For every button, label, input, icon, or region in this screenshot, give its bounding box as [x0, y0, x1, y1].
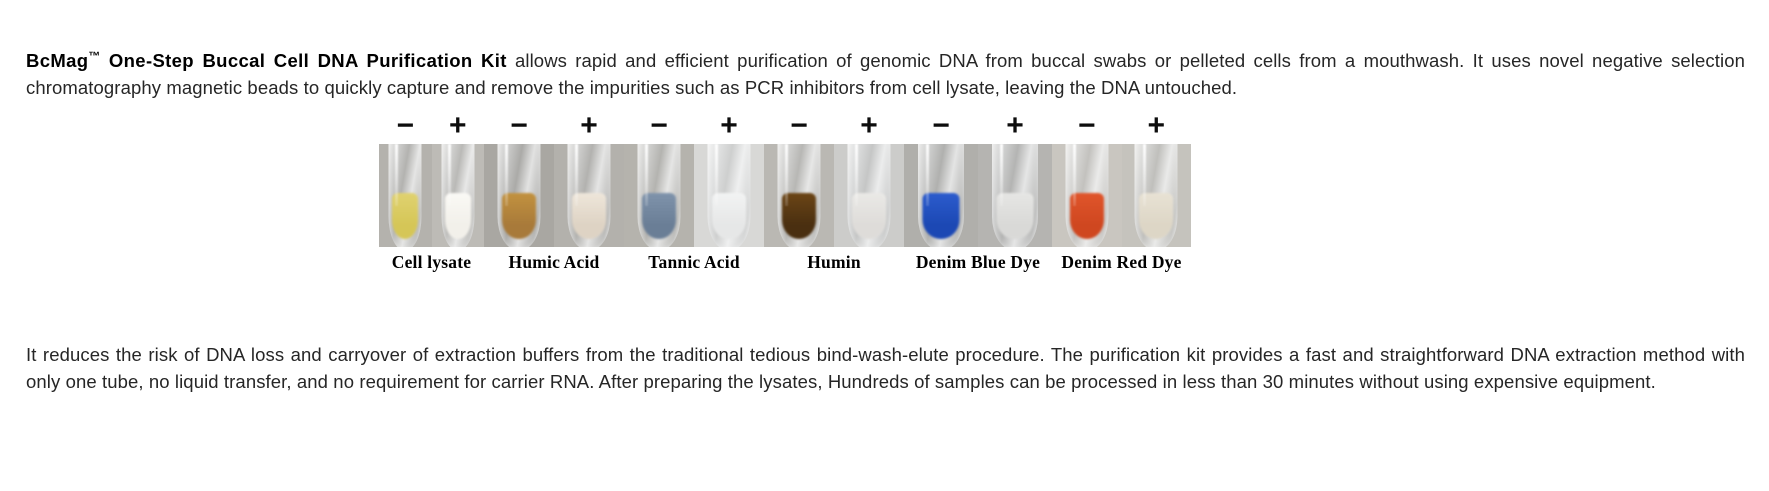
plus-sign-icon: + — [580, 111, 598, 141]
figure-label-row: Cell lysateHumic AcidTannic AcidHuminDen… — [379, 252, 1191, 273]
minus-sign-icon: − — [510, 111, 528, 141]
plus-sign-icon: + — [1006, 111, 1024, 141]
plus-sign-icon: + — [860, 111, 878, 141]
trademark-symbol: ™ — [88, 49, 100, 63]
tube-minus — [764, 144, 834, 247]
sign-group-2: −+ — [624, 111, 764, 141]
tube-minus — [1052, 144, 1122, 247]
tube-minus — [484, 144, 554, 247]
minus-sign-icon: − — [650, 111, 668, 141]
tube-panel-1 — [484, 144, 624, 247]
minus-sign-icon: − — [932, 111, 950, 141]
tube-panel-0 — [379, 144, 484, 247]
outro-body-text: It reduces the risk of DNA loss and carr… — [26, 344, 1745, 392]
figure-label-4: Denim Blue Dye — [904, 252, 1052, 273]
tube-plus — [978, 144, 1052, 247]
tube-panel-2 — [624, 144, 764, 247]
tube-plus — [554, 144, 624, 247]
figure-label-1: Humic Acid — [484, 252, 624, 273]
tube-plus — [432, 144, 485, 247]
sign-group-1: −+ — [484, 111, 624, 141]
plus-sign-icon: + — [449, 111, 467, 141]
tube-highlight — [1143, 144, 1146, 206]
intro-paragraph: BcMag™ One-Step Buccal Cell DNA Purifica… — [26, 43, 1745, 101]
tube-highlight — [1000, 144, 1003, 206]
plus-sign-icon: + — [1147, 111, 1165, 141]
tube-highlight — [1073, 144, 1076, 206]
figure-label-2: Tannic Acid — [624, 252, 764, 273]
tube-panel-5 — [1052, 144, 1191, 247]
product-brand: BcMag — [26, 50, 88, 71]
tube-minus — [904, 144, 978, 247]
tube-plus — [694, 144, 764, 247]
tube-highlight — [505, 144, 508, 206]
tube-highlight — [855, 144, 858, 206]
tube-highlight — [395, 144, 398, 206]
sign-group-4: −+ — [904, 111, 1052, 141]
tube-highlight — [785, 144, 788, 206]
sign-group-5: −+ — [1052, 111, 1191, 141]
product-name: BcMag™ One-Step Buccal Cell DNA Purifica… — [26, 50, 507, 71]
tube-minus — [624, 144, 694, 247]
tube-highlight — [448, 144, 451, 206]
tube-highlight — [645, 144, 648, 206]
plus-sign-icon: + — [720, 111, 738, 141]
comparison-figure: −+−+−+−+−+−+ Cell lysateHumic AcidTannic… — [379, 108, 1191, 273]
figure-sign-row: −+−+−+−+−+−+ — [379, 108, 1191, 144]
tube-panel-3 — [764, 144, 904, 247]
tube-panel-4 — [904, 144, 1052, 247]
sign-group-0: −+ — [379, 111, 484, 141]
tube-plus — [834, 144, 904, 247]
tube-plus — [1122, 144, 1192, 247]
tube-highlight — [575, 144, 578, 206]
minus-sign-icon: − — [790, 111, 808, 141]
figure-label-5: Denim Red Dye — [1052, 252, 1191, 273]
minus-sign-icon: − — [396, 111, 414, 141]
product-description-page: BcMag™ One-Step Buccal Cell DNA Purifica… — [0, 0, 1769, 491]
figure-tube-image-strip — [379, 144, 1191, 247]
minus-sign-icon: − — [1078, 111, 1096, 141]
sign-group-3: −+ — [764, 111, 904, 141]
figure-label-0: Cell lysate — [379, 252, 484, 273]
tube-highlight — [926, 144, 929, 206]
figure-label-3: Humin — [764, 252, 904, 273]
tube-highlight — [715, 144, 718, 206]
product-name-rest: One-Step Buccal Cell DNA Purification Ki… — [100, 50, 506, 71]
tube-minus — [379, 144, 432, 247]
outro-paragraph: It reduces the risk of DNA loss and carr… — [26, 341, 1745, 395]
